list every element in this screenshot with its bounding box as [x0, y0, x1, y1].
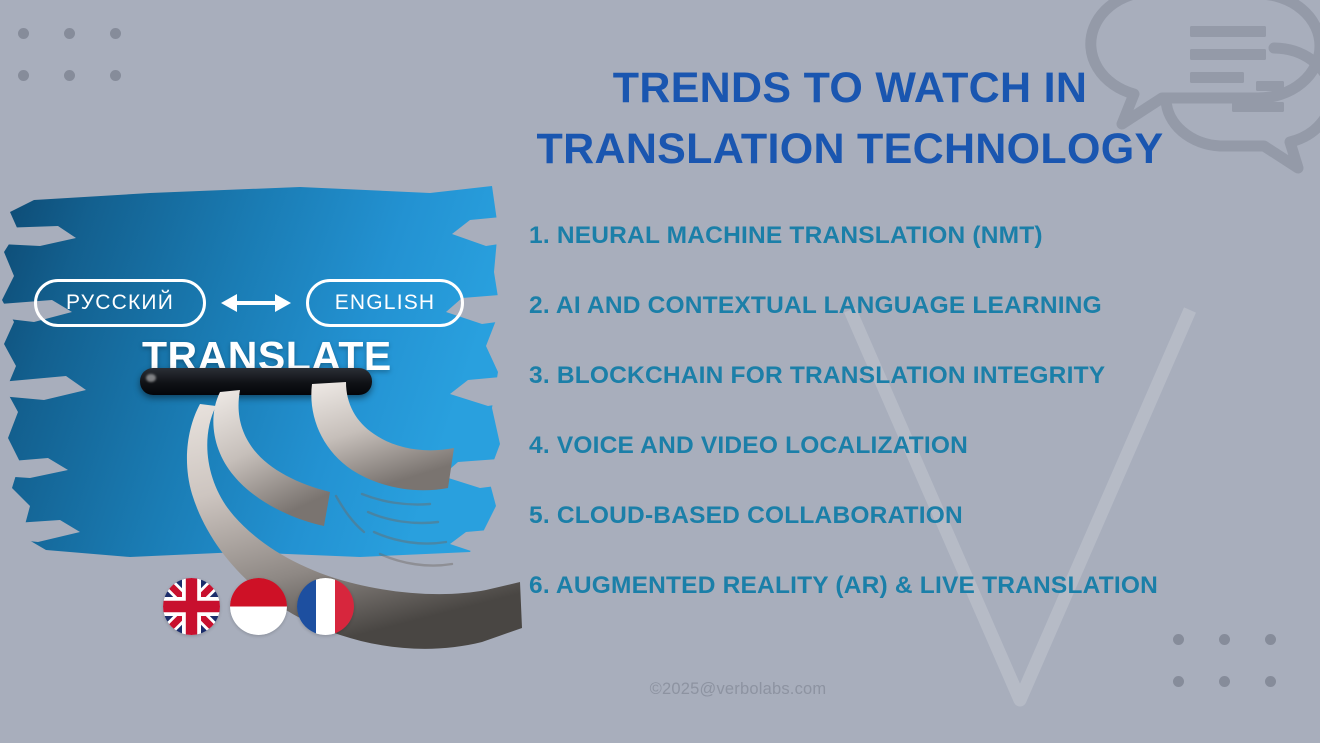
- dot: [18, 70, 29, 81]
- translation-artwork: РУССКИЙ ENGLISH TRANSLATE: [0, 176, 512, 562]
- list-item: 4. VOICE AND VIDEO LOCALIZATION: [529, 434, 1229, 459]
- page-title: TRENDS TO WATCH IN TRANSLATION TECHNOLOG…: [500, 58, 1200, 180]
- list-item: 1. NEURAL MACHINE TRANSLATION (NMT): [529, 224, 1229, 249]
- flag-france-icon: [297, 578, 354, 635]
- dot: [64, 70, 75, 81]
- list-item: 2. AI AND CONTEXTUAL LANGUAGE LEARNING: [529, 294, 1229, 319]
- title-line-1: TRENDS TO WATCH IN: [500, 58, 1200, 119]
- list-item: 3. BLOCKCHAIN FOR TRANSLATION INTEGRITY: [529, 364, 1229, 389]
- target-language-label: ENGLISH: [335, 291, 436, 315]
- source-language-pill[interactable]: РУССКИЙ: [34, 279, 206, 327]
- footer-copyright: ©2025@verbolabs.com: [78, 680, 1320, 699]
- flag-row: [163, 578, 354, 635]
- dot: [18, 28, 29, 39]
- dot: [110, 70, 121, 81]
- dot: [1265, 634, 1276, 645]
- flag-uk-icon: [163, 578, 220, 635]
- target-language-pill[interactable]: ENGLISH: [306, 279, 464, 327]
- title-line-2: TRANSLATION TECHNOLOGY: [500, 119, 1200, 180]
- list-item: 6. AUGMENTED REALITY (AR) & LIVE TRANSLA…: [529, 574, 1229, 599]
- double-headed-arrow-icon: [206, 290, 306, 316]
- flag-indonesia-icon: [230, 578, 287, 635]
- slide-canvas: РУССКИЙ ENGLISH TRANSLATE: [0, 0, 1320, 743]
- dot: [64, 28, 75, 39]
- dot: [110, 28, 121, 39]
- source-language-label: РУССКИЙ: [66, 291, 174, 315]
- dot-grid-top-left: [18, 28, 121, 81]
- list-item: 5. CLOUD-BASED COLLABORATION: [529, 504, 1229, 529]
- trends-list: 1. NEURAL MACHINE TRANSLATION (NMT) 2. A…: [529, 224, 1229, 644]
- language-pair-row: РУССКИЙ ENGLISH: [34, 276, 464, 330]
